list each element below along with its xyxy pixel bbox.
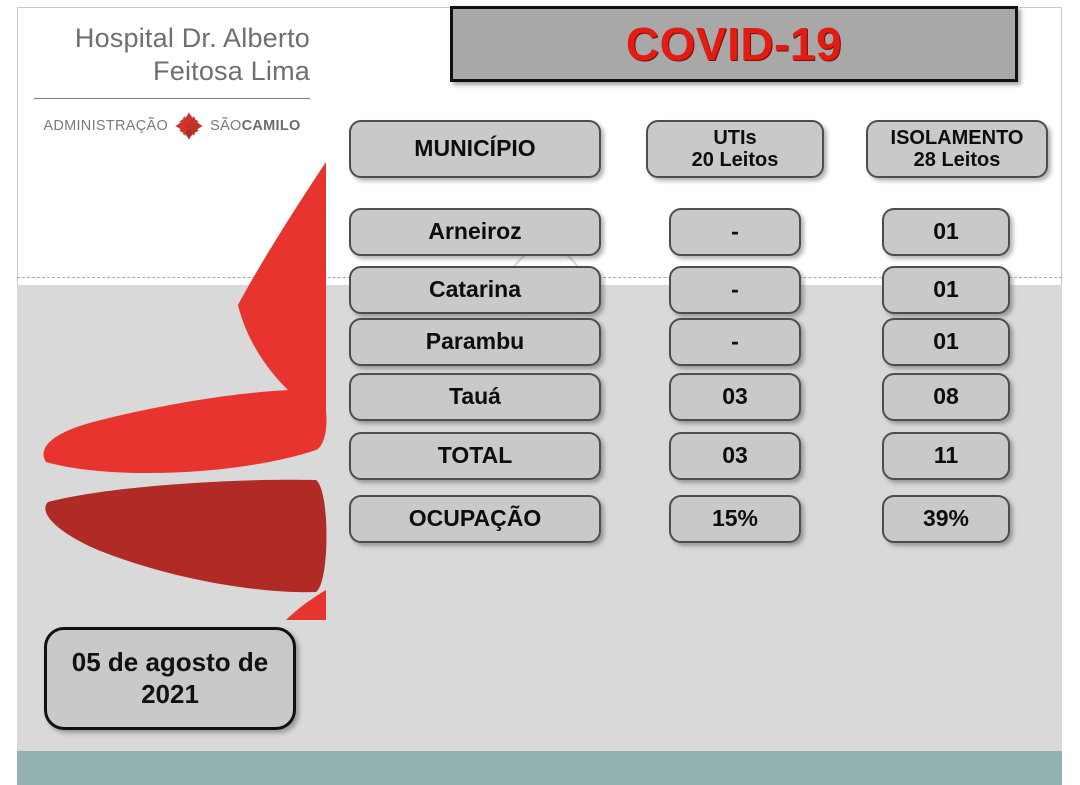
table-row-utis: 03 <box>669 373 801 421</box>
covid-title-banner: COVID-19 <box>450 6 1018 82</box>
header-isolamento-sub: 28 Leitos <box>914 149 1001 171</box>
cell-utis: - <box>731 219 739 245</box>
table-row-municipio: Parambu <box>349 318 601 366</box>
cell-utis: - <box>731 277 739 303</box>
four-petal-cross-icon <box>174 111 204 141</box>
cell-municipio: Arneiroz <box>428 219 521 245</box>
cell-municipio: OCUPAÇÃO <box>409 506 541 532</box>
hospital-branding: Hospital Dr. Alberto Feitosa Lima ADMINI… <box>34 22 310 141</box>
table-row-ocupacao-utis: 15% <box>669 495 801 543</box>
table-row-isolamento: 08 <box>882 373 1010 421</box>
hospital-name-line2: Feitosa Lima <box>34 55 310 88</box>
cell-utis: 03 <box>722 443 748 469</box>
table-row-municipio: Arneiroz <box>349 208 601 256</box>
table-row-total-utis: 03 <box>669 432 801 480</box>
cell-utis: 03 <box>722 384 748 410</box>
cell-isolamento: 01 <box>933 277 959 303</box>
header-utis: UTIs 20 Leitos <box>646 120 824 178</box>
cell-isolamento: 08 <box>933 384 959 410</box>
table-row-utis: - <box>669 266 801 314</box>
cell-isolamento: 01 <box>933 329 959 355</box>
table-row-ocupacao-label: OCUPAÇÃO <box>349 495 601 543</box>
table-row-ocupacao-isolamento: 39% <box>882 495 1010 543</box>
hospital-name-line1: Hospital Dr. Alberto <box>34 22 310 55</box>
cell-isolamento: 01 <box>933 219 959 245</box>
header-utis-label: UTIs <box>713 127 756 149</box>
header-municipio: MUNICÍPIO <box>349 120 601 178</box>
table-row-utis: - <box>669 318 801 366</box>
date-badge: 05 de agosto de 2021 <box>44 627 296 730</box>
cell-isolamento: 11 <box>934 443 958 469</box>
footer-bar <box>17 751 1062 785</box>
date-line1: 05 de agosto de <box>72 647 269 677</box>
header-isolamento: ISOLAMENTO 28 Leitos <box>866 120 1048 178</box>
covid-title-text: COVID-19 <box>626 17 842 71</box>
date-line2: 2021 <box>141 679 199 709</box>
cell-isolamento: 39% <box>923 506 969 532</box>
header-municipio-label: MUNICÍPIO <box>414 136 535 162</box>
administration-brand: SÃOCAMILO <box>210 118 301 134</box>
header-isolamento-label: ISOLAMENTO <box>891 127 1024 149</box>
administration-row: ADMINISTRAÇÃO SÃOCAMILO <box>34 111 310 141</box>
cell-utis: - <box>731 329 739 355</box>
hospital-name: Hospital Dr. Alberto Feitosa Lima <box>34 22 310 88</box>
left-gutter <box>0 0 17 785</box>
table-row-utis: - <box>669 208 801 256</box>
cell-utis: 15% <box>712 506 758 532</box>
cell-municipio: TOTAL <box>438 443 513 469</box>
table-row-isolamento: 01 <box>882 208 1010 256</box>
cell-municipio: Tauá <box>449 384 501 410</box>
table-row-total-isolamento: 11 <box>882 432 1010 480</box>
branding-divider <box>34 98 310 99</box>
table-row-municipio: Tauá <box>349 373 601 421</box>
brand-sao: SÃO <box>210 118 242 134</box>
table-row-isolamento: 01 <box>882 266 1010 314</box>
table-row-municipio: Catarina <box>349 266 601 314</box>
cell-municipio: Catarina <box>429 277 521 303</box>
slide-canvas: Hospital Dr. Alberto Feitosa Lima ADMINI… <box>0 0 1080 785</box>
table-row-total-label: TOTAL <box>349 432 601 480</box>
date-badge-text: 05 de agosto de 2021 <box>72 647 269 710</box>
table-row-isolamento: 01 <box>882 318 1010 366</box>
header-utis-sub: 20 Leitos <box>692 149 779 171</box>
brand-camilo: CAMILO <box>242 118 301 134</box>
cell-municipio: Parambu <box>426 329 524 355</box>
administration-label: ADMINISTRAÇÃO <box>43 118 168 134</box>
